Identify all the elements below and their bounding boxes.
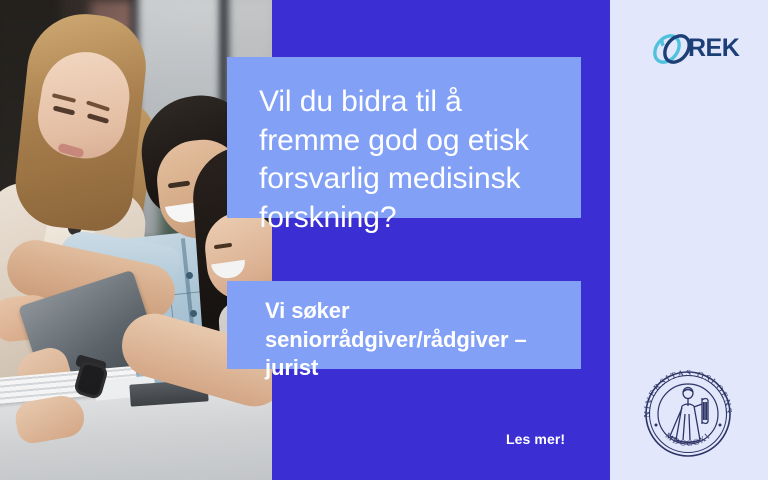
headline-box: Vil du bidra til å fremme god og etisk f…: [227, 57, 581, 218]
headline-text: Vil du bidra til å fremme god og etisk f…: [259, 83, 551, 238]
rek-logo[interactable]: REK: [648, 25, 744, 73]
university-of-oslo-seal-icon: UNIVERSITAS OSLOENSIS MDCCCXI: [636, 362, 740, 466]
uio-seal[interactable]: UNIVERSITAS OSLOENSIS MDCCCXI: [636, 362, 740, 466]
read-more-link[interactable]: Les mer!: [506, 431, 565, 447]
job-title-box: Vi søker seniorrådgiver/rådgiver – juris…: [227, 281, 581, 369]
rek-wordmark: REK: [688, 34, 739, 63]
recruitment-banner: Vil du bidra til å fremme god og etisk f…: [0, 0, 768, 480]
job-title-text: Vi søker seniorrådgiver/rådgiver – juris…: [265, 297, 557, 383]
